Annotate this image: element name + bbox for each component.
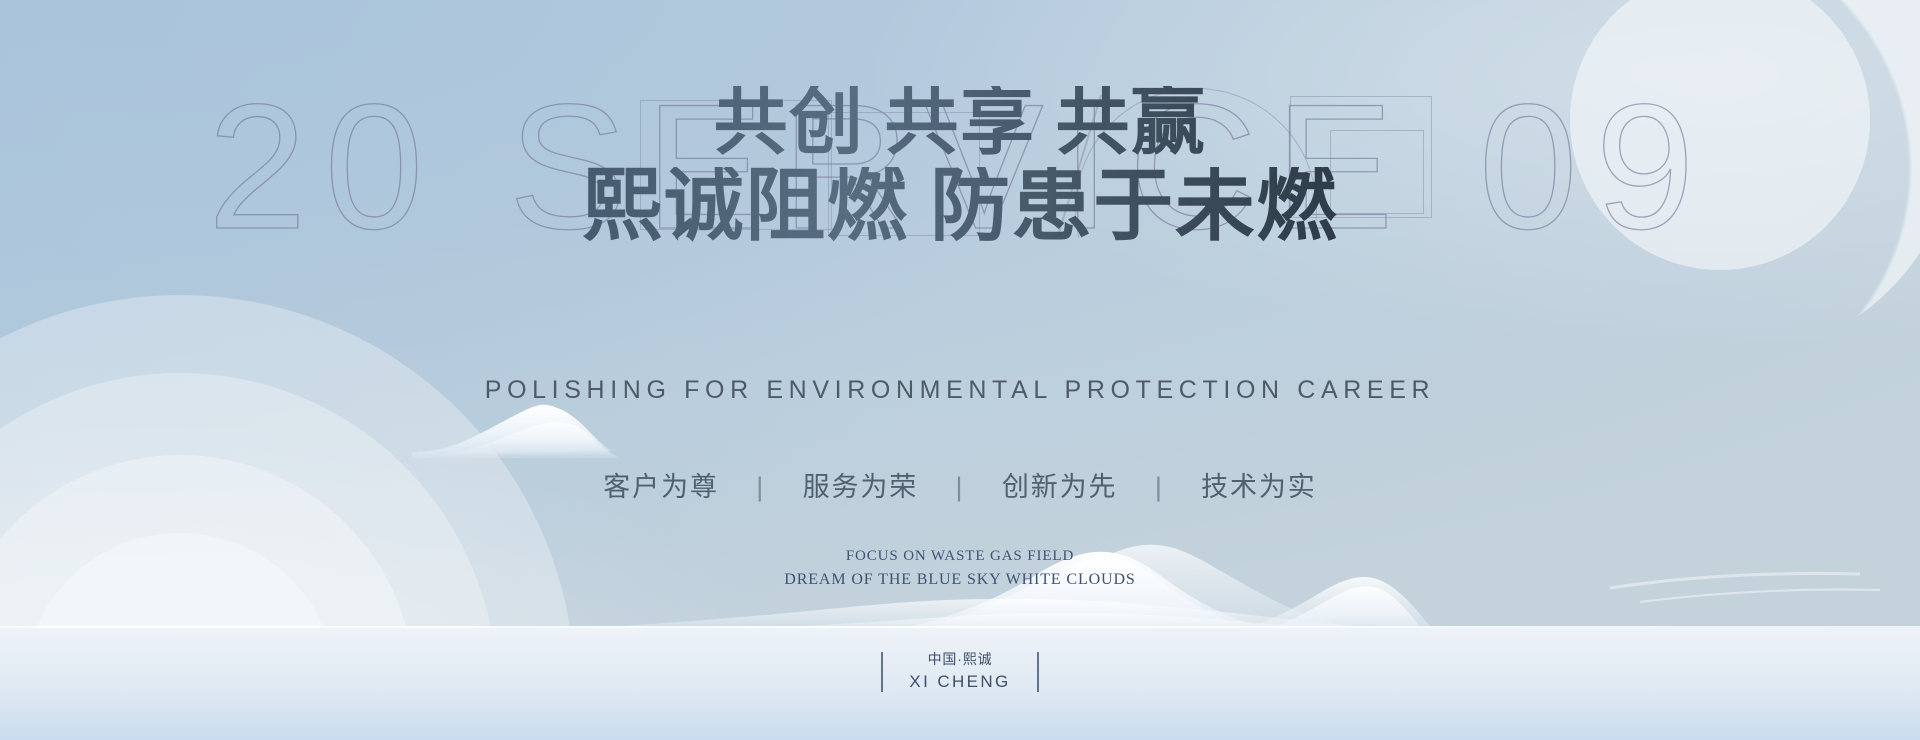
value-item-3: 创新为先 [1002,465,1118,504]
value-separator-3: | [1155,472,1164,503]
brand-name-chinese: 中国·熙诚 [928,651,993,667]
english-slogan-block: FOCUS ON WASTE GAS FIELD DREAM OF THE BL… [0,545,1920,592]
value-proposition-row: 客户为尊 | 服务为荣 | 创新为先 | 技术为实 [0,465,1920,504]
brand-name-pinyin: XI CHENG [909,672,1010,691]
value-item-2: 服务为荣 [803,465,919,504]
subtitle-english: POLISHING FOR ENVIRONMENTAL PROTECTION C… [0,376,1920,405]
headline-block: 共创 共享 共赢 熙诚阻燃 防患于未燃 [0,86,1920,249]
content-layer: 共创 共享 共赢 熙诚阻燃 防患于未燃 POLISHING FOR ENVIRO… [0,0,1920,740]
english-slogan-line-2: DREAM OF THE BLUE SKY WHITE CLOUDS [0,568,1920,592]
brand-rule-right [1037,652,1039,692]
brand-lockup: 中国·熙诚 XI CHENG [0,649,1920,694]
value-item-4: 技术为实 [1201,465,1317,504]
value-separator-1: | [756,472,765,503]
english-slogan-line-1: FOCUS ON WASTE GAS FIELD [0,545,1920,568]
value-item-1: 客户为尊 [603,465,719,504]
brand-rule-left [881,652,883,692]
brand-text: 中国·熙诚 XI CHENG [909,649,1010,694]
promo-banner: 20 SERVICE 09 [0,0,1920,740]
headline-line-1: 共创 共享 共赢 [0,86,1920,161]
headline-line-2: 熙诚阻燃 防患于未燃 [0,167,1920,249]
value-separator-2: | [956,472,965,503]
